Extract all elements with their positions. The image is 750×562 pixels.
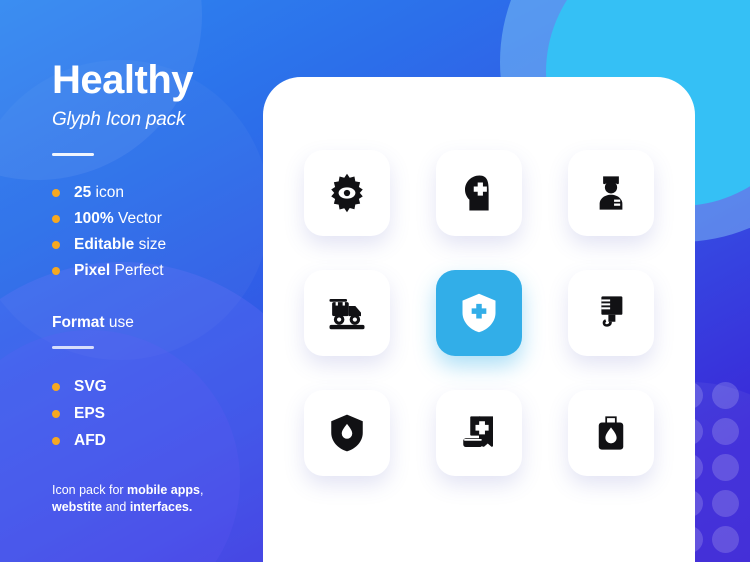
format-divider [52,346,94,349]
bullet-dot-icon [52,189,60,197]
bullet-dot-icon [52,410,60,418]
decor-dot [712,490,739,517]
medical-bottle-icon [590,412,632,454]
bullet-dot-icon [52,437,60,445]
ambulance-icon [326,292,368,334]
feature-list: 25 icon 100% Vector Editable size Pixel … [52,180,267,284]
footer-text-b: mobile apps [127,483,200,497]
shield-medical-cross-icon [457,291,501,335]
format-heading-rest: use [105,314,134,331]
gear-eye-icon [326,172,368,214]
icon-showcase-panel [263,77,695,562]
list-item: Pixel Perfect [52,258,267,284]
decor-dot [712,526,739,553]
footer-note: Icon pack for mobile apps, webstite and … [52,482,242,516]
icon-card-medical-bottle[interactable] [568,390,654,476]
shield-droplet-icon [326,412,368,454]
feature-rest: Vector [114,210,162,227]
nurse-icon [590,172,632,214]
decor-dot [712,454,739,481]
list-item: AFD [52,427,267,454]
list-item: 25 icon [52,180,267,206]
syringe-icon [590,292,632,334]
icon-card-head-medical-cross[interactable] [436,150,522,236]
feature-strong: 100% [74,210,114,227]
list-item: 100% Vector [52,206,267,232]
feature-strong: 25 [74,184,91,201]
format-heading: Format use [52,314,267,332]
icon-card-hospital-bed[interactable] [436,390,522,476]
page-subtitle: Glyph Icon pack [52,109,267,131]
icon-card-ambulance[interactable] [304,270,390,356]
feature-strong: Pixel [74,262,110,279]
head-medical-cross-icon [458,172,500,214]
bullet-dot-icon [52,241,60,249]
format-label: AFD [74,427,106,454]
footer-text-d: webstite [52,500,102,514]
list-item: EPS [52,400,267,427]
format-label: SVG [74,373,107,400]
icon-card-shield-medical-cross[interactable] [436,270,522,356]
format-label: EPS [74,400,105,427]
icon-card-shield-droplet[interactable] [304,390,390,476]
format-heading-strong: Format [52,314,105,331]
icon-card-gear-eye[interactable] [304,150,390,236]
bullet-dot-icon [52,267,60,275]
bullet-dot-icon [52,383,60,391]
title-divider [52,153,94,156]
feature-rest: Perfect [110,262,163,279]
feature-rest: size [134,236,166,253]
icon-grid [304,150,654,476]
icon-card-syringe[interactable] [568,270,654,356]
list-item: SVG [52,373,267,400]
bullet-dot-icon [52,215,60,223]
footer-text-c: , [200,483,203,497]
feature-strong: Editable [74,236,134,253]
hospital-bed-icon [458,412,500,454]
footer-text-f: interfaces. [130,500,193,514]
list-item: Editable size [52,232,267,258]
feature-rest: icon [91,184,124,201]
format-list: SVG EPS AFD [52,373,267,454]
footer-text-a: Icon pack for [52,483,127,497]
footer-text-e: and [102,500,130,514]
decor-dot [712,418,739,445]
icon-card-nurse[interactable] [568,150,654,236]
page-title: Healthy [52,60,267,100]
info-column: Healthy Glyph Icon pack 25 icon 100% Vec… [52,60,267,516]
decor-dot [712,382,739,409]
poster-canvas: Healthy Glyph Icon pack 25 icon 100% Vec… [0,0,750,562]
